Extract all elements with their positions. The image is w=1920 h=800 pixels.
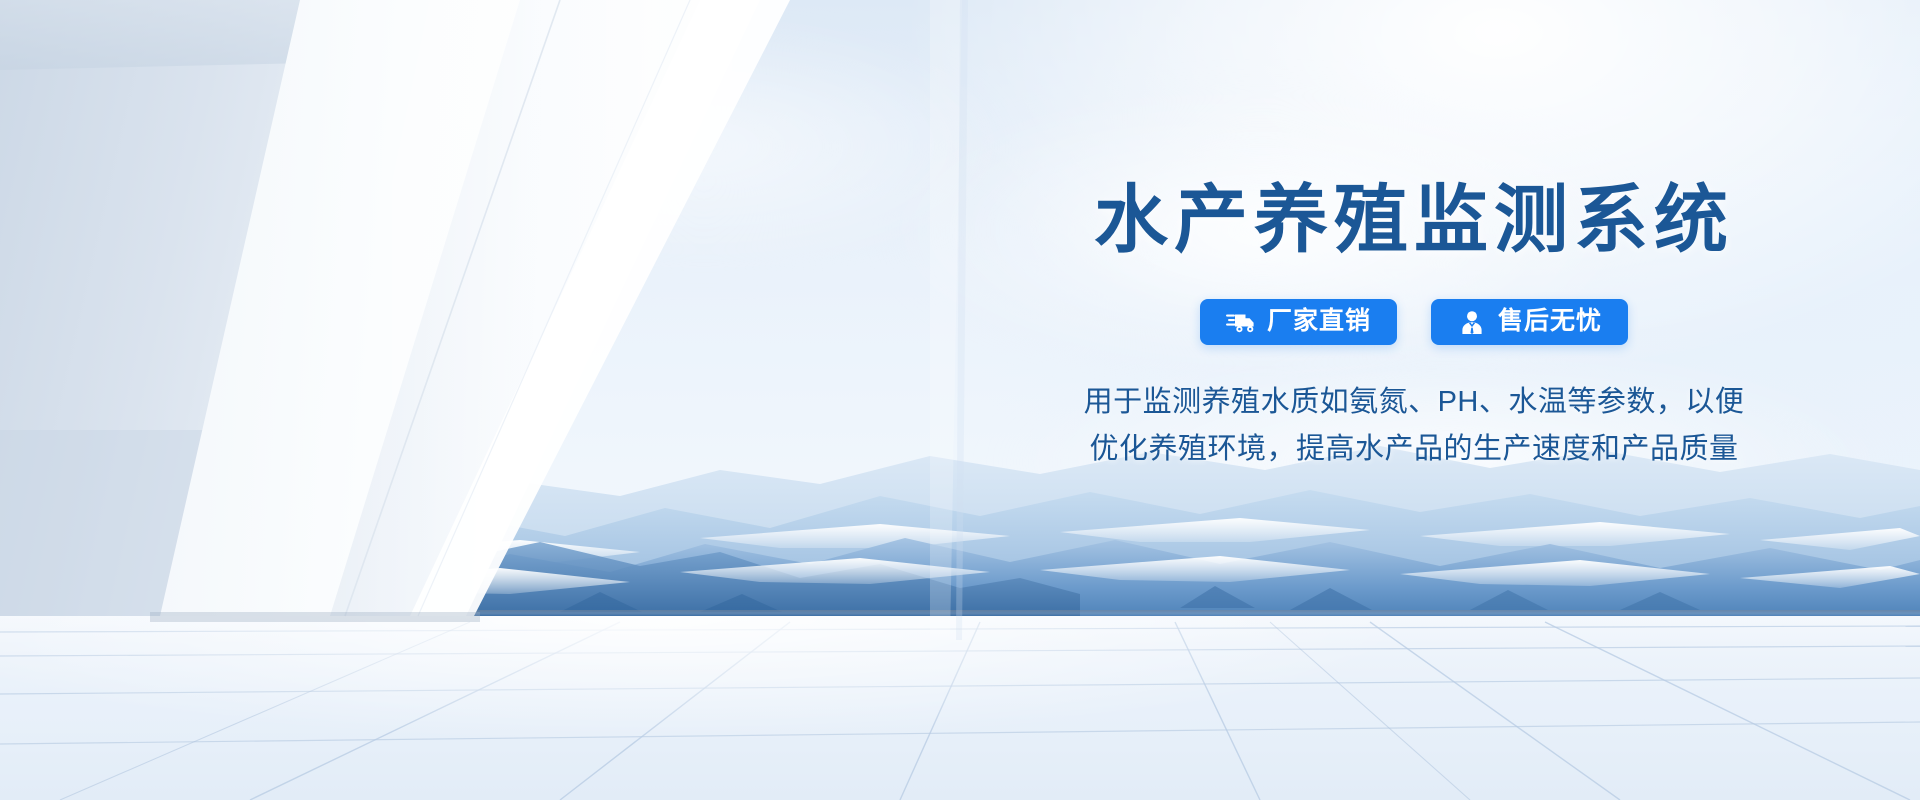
- description-line-1: 用于监测养殖水质如氨氮、PH、水温等参数，以便: [994, 379, 1834, 426]
- support-agent-icon: [1457, 309, 1487, 335]
- truck-icon: [1226, 309, 1256, 335]
- badge-factory-direct[interactable]: 厂家直销: [1200, 299, 1397, 345]
- page-title: 水产养殖监测系统: [994, 182, 1834, 259]
- banner-description: 用于监测养殖水质如氨氮、PH、水温等参数，以便 优化养殖环境，提高水产品的生产速…: [994, 379, 1834, 473]
- badge-factory-direct-label: 厂家直销: [1267, 309, 1371, 334]
- banner-content: 水产养殖监测系统: [994, 182, 1834, 473]
- badge-group: 厂家直销: [994, 299, 1834, 345]
- badge-after-sales-label: 售后无忧: [1498, 309, 1602, 334]
- description-line-2: 优化养殖环境，提高水产品的生产速度和产品质量: [994, 426, 1834, 473]
- hero-banner: 水产养殖监测系统: [0, 0, 1920, 800]
- badge-after-sales[interactable]: 售后无忧: [1431, 299, 1628, 345]
